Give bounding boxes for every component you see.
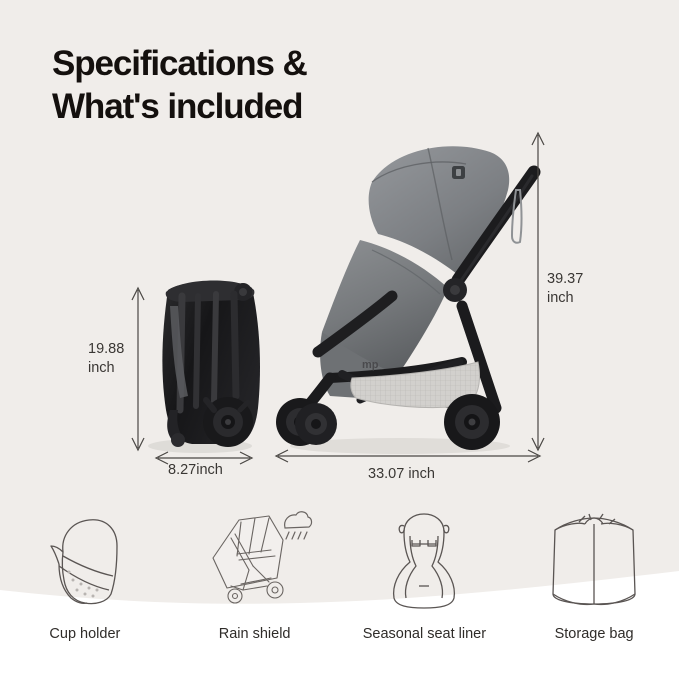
accessory-item-rain-shield: Rain shield (170, 500, 340, 679)
dimension-width-folded-label: 8.27inch (168, 461, 223, 480)
accessory-label-storage-bag: Storage bag (555, 626, 634, 642)
dimension-height-folded-label: 19.88 inch (88, 340, 124, 378)
cup-holder-art (33, 500, 137, 612)
accessory-item-seat-liner: Seasonal seat liner (340, 500, 510, 679)
frame-logo: mp (362, 359, 379, 371)
rain-shield-icon (197, 506, 313, 612)
arrow-height-folded (132, 288, 144, 450)
rain-shield-art (197, 500, 313, 612)
accessory-item-storage-bag: Storage bag (509, 500, 679, 679)
open-stroller-illustration: mp (276, 146, 534, 454)
accessory-label-cup-holder: Cup holder (49, 626, 120, 642)
dimension-length-main-label: 33.07 inch (368, 465, 435, 484)
folded-stroller-illustration (148, 280, 260, 453)
storage-bag-art (539, 500, 649, 612)
seat-liner-art (372, 500, 476, 612)
dimension-height-main-label: 39.37 inch (547, 270, 583, 308)
title-line-2: What's included (52, 85, 307, 128)
specifications-infographic: Specifications & What's included (0, 0, 679, 679)
accessory-label-rain-shield: Rain shield (219, 626, 291, 642)
storage-bag-icon (539, 506, 649, 612)
accessory-item-cup-holder: Cup holder (0, 500, 170, 679)
seat-liner-icon (372, 506, 476, 612)
page-title: Specifications & What's included (52, 42, 307, 128)
accessory-label-seat-liner: Seasonal seat liner (363, 626, 486, 642)
title-line-1: Specifications & (52, 42, 307, 85)
cup-holder-icon (33, 506, 137, 612)
accessories-row: Cup holder (0, 500, 679, 679)
